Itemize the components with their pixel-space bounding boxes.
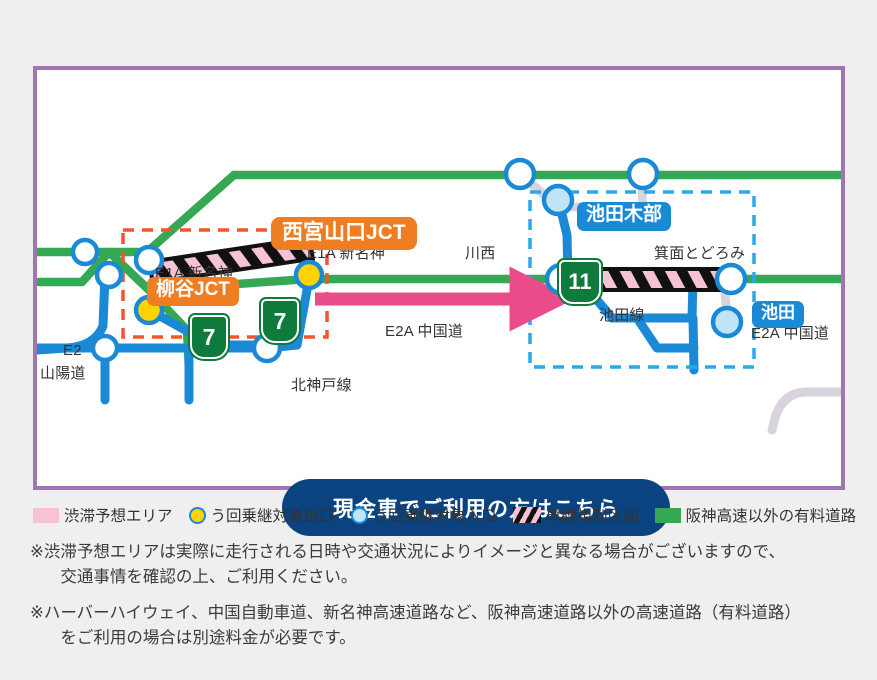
road-label-minoh-todoromi: 箕面とどろみ — [654, 242, 745, 263]
footnote-2-line2: をご利用の場合は別途料金が必要です。 — [60, 626, 355, 651]
detour-exit-circle-icon — [189, 507, 206, 524]
entrance-node-ikeda — [713, 308, 741, 336]
footnote-2-body: ハーバーハイウェイ、中国自動車道、新名神高速道路など、阪神高速道路以外の高速道路… — [44, 601, 860, 651]
pill-yanagidani-jct: 柳谷JCT — [147, 277, 239, 306]
legend-label-lane-restriction: 車線規制区間 — [546, 504, 639, 526]
footnote-2-line1: ハーバーハイウェイ、中国自動車道、新名神高速道路など、阪神高速道路以外の高速道路… — [44, 604, 801, 622]
road-label-e2a-chugokudo-center: E2A 中国道 — [385, 320, 463, 341]
footnotes: ※ 渋滞予想エリアは実際に走行される日時や交通状況によりイメージと異なる場合がご… — [30, 540, 860, 662]
legend-item-non-hanshin-toll: 阪神高速以外の有料道路 — [655, 504, 857, 526]
footnote-2-mark: ※ — [30, 601, 44, 651]
legend-item-congestion-area: 渋滞予想エリア — [33, 504, 173, 526]
road-label-kawanishi: 川西 — [465, 242, 495, 263]
road-label-sanyodo: 山陽道 — [40, 362, 86, 383]
map-legend: 渋滞予想エリア う回乗継対象出口 う回乗継対象入口 車線規制区間 阪神高速以外の… — [33, 502, 861, 528]
footnote-1-body: 渋滞予想エリアは実際に走行される日時や交通状況によりイメージと異なる場合がござい… — [44, 540, 860, 590]
legend-item-lane-restriction: 車線規制区間 — [513, 504, 639, 526]
legend-label-congestion-area: 渋滞予想エリア — [64, 504, 173, 526]
legend-item-detour-entrance: う回乗継対象入口 — [351, 504, 497, 526]
entrance-node-ikedakibe — [544, 186, 572, 214]
congestion-area-swatch-icon — [33, 508, 59, 523]
road-label-kitakobe-sen: 北神戸線 — [291, 374, 352, 395]
pill-nishinomiya-yamaguchi-jct: 西宮山口JCT — [271, 217, 417, 250]
route-shield-11: 11 — [559, 260, 601, 304]
legend-label-detour-exit: う回乗継対象出口 — [211, 504, 335, 526]
road-label-ikeda-sen: 池田線 — [599, 304, 645, 325]
detour-entrance-circle-icon — [351, 507, 368, 524]
pill-ikeda-kibe: 池田木部 — [577, 202, 671, 231]
footnote-2: ※ ハーバーハイウェイ、中国自動車道、新名神高速道路など、阪神高速道路以外の高速… — [30, 601, 860, 651]
route-shield-7-left: 7 — [190, 315, 228, 359]
route-map: E1A 新名神 E1A 新名神 川西 箕面とどろみ E2A 中国道 E2A 中国… — [33, 66, 845, 490]
footnote-1: ※ 渋滞予想エリアは実際に走行される日時や交通状況によりイメージと異なる場合がご… — [30, 540, 860, 590]
footnote-1-line2: 交通事情を確認の上、ご利用ください。 — [60, 565, 357, 590]
page-root: E1A 新名神 E1A 新名神 川西 箕面とどろみ E2A 中国道 E2A 中国… — [0, 0, 877, 680]
legend-label-detour-entrance: う回乗継対象入口 — [373, 504, 497, 526]
non-hanshin-toll-swatch-icon — [655, 508, 681, 523]
legend-label-non-hanshin-toll: 阪神高速以外の有料道路 — [686, 504, 857, 526]
route-shield-7-right: 7 — [261, 299, 299, 343]
legend-item-detour-exit: う回乗継対象出口 — [189, 504, 335, 526]
footnote-1-line1: 渋滞予想エリアは実際に走行される日時や交通状況によりイメージと異なる場合がござい… — [44, 543, 785, 561]
road-label-e2: E2 — [63, 342, 82, 359]
footnote-1-mark: ※ — [30, 540, 44, 590]
exit-node-nishinomiya — [296, 262, 322, 288]
pill-ikeda: 池田 — [752, 301, 804, 328]
lane-restriction-stripe-icon — [513, 507, 541, 523]
